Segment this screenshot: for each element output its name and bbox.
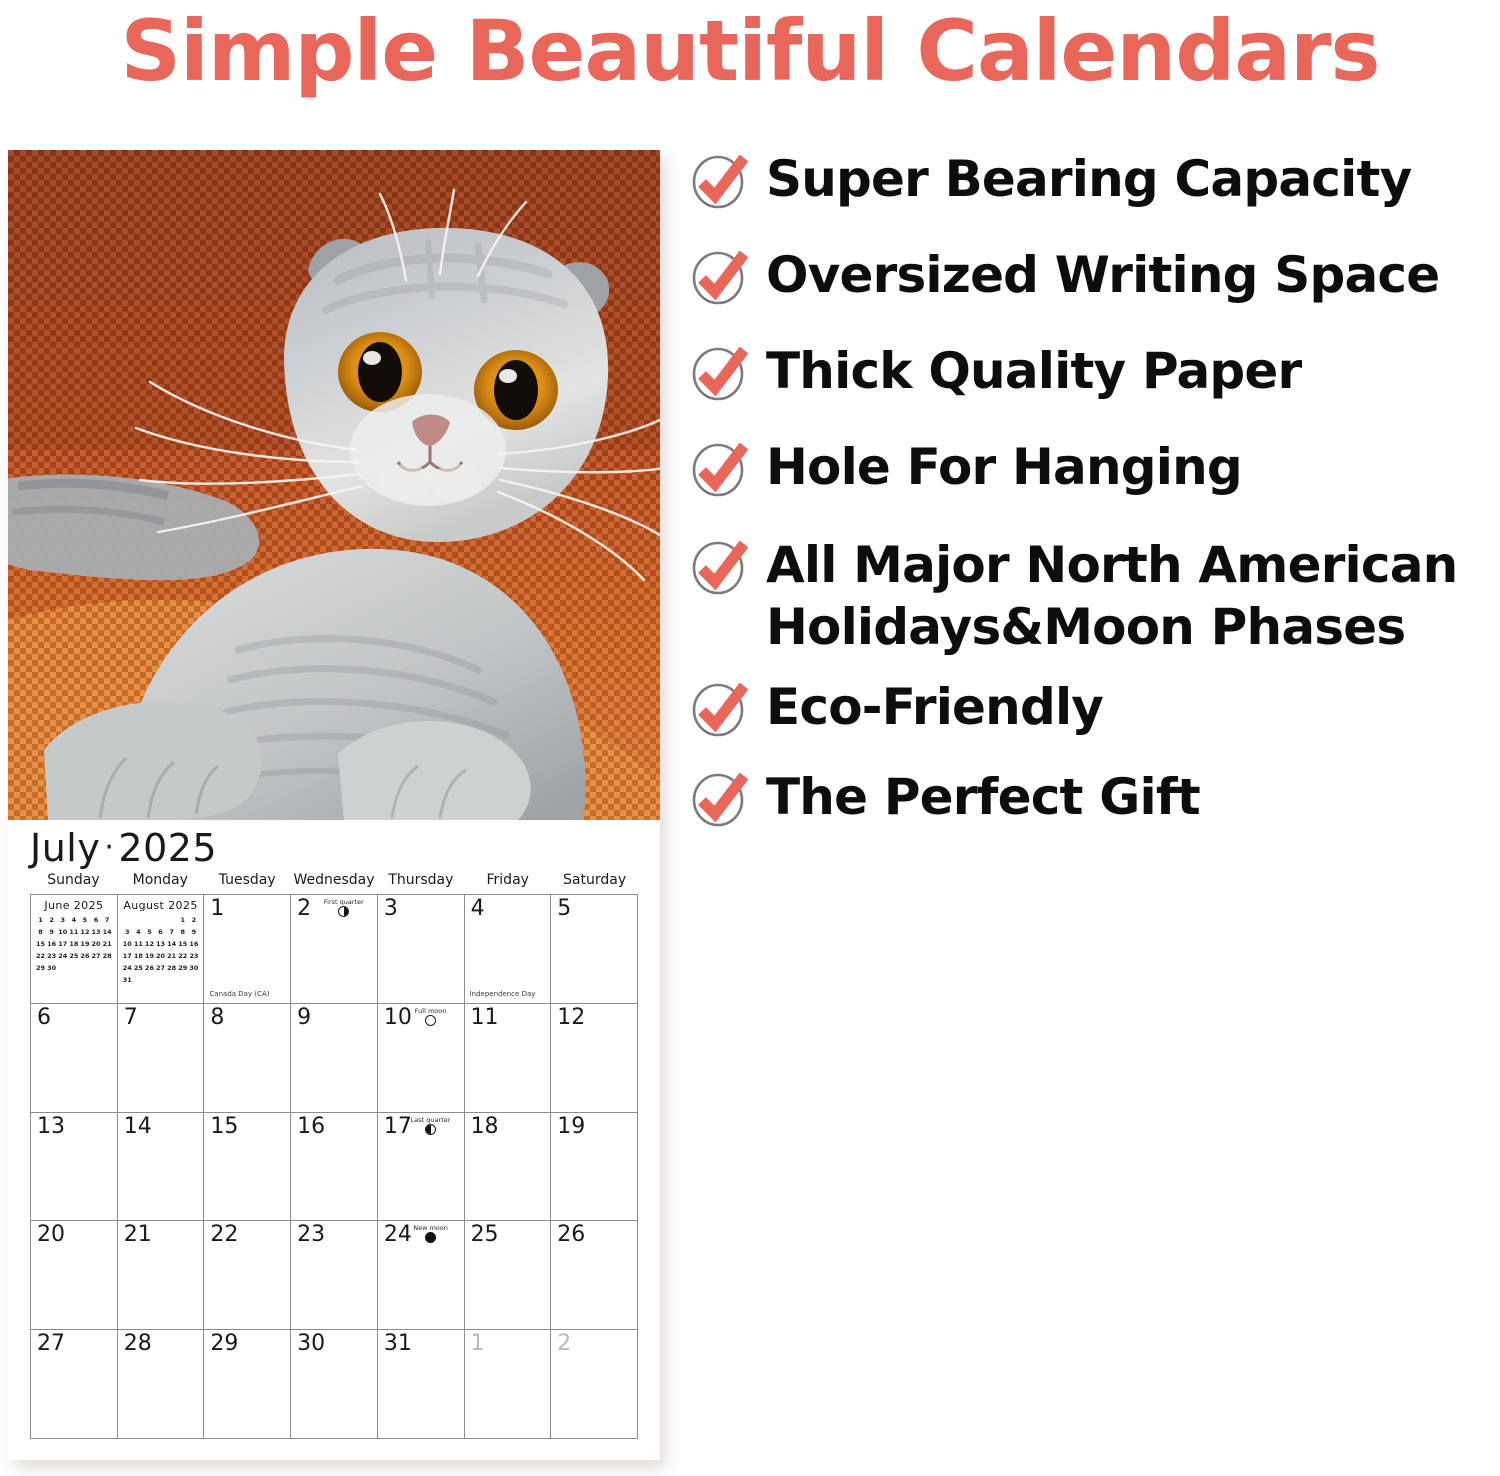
mini-day: 18 [133,952,144,961]
feature-item: All Major North AmericanHolidays&Moon Ph… [690,534,1490,658]
calendar-day-cell: 25 [465,1221,552,1330]
day-number: 1 [210,896,224,922]
mini-day: 7 [166,928,177,937]
mini-day: 11 [133,940,144,949]
moon-phase-label: Last quarter [402,1116,460,1124]
calendar-day-cell: 22 [204,1221,291,1330]
calendar-day-cell: 27 [31,1330,118,1439]
feature-item: Eco-Friendly [690,676,1490,740]
mini-day: 2 [46,916,57,925]
mini-day: 29 [35,964,46,973]
calendar-day-cell: 10Full moon [378,1004,465,1113]
mini-day: 1 [177,916,188,925]
calendar-day-cell: 1 [465,1330,552,1439]
mini-day: 22 [177,952,188,961]
mini-day: 19 [79,940,90,949]
mini-day: 15 [35,940,46,949]
title-separator: · [100,830,118,865]
calendar-day-cell: 1Canada Day (CA) [204,895,291,1004]
day-number: 2 [297,896,311,922]
feature-item: Thick Quality Paper [690,340,1490,404]
check-circle-icon [690,246,752,308]
calendar-day-cell: 9 [291,1004,378,1113]
feature-label-line-1: All Major North American [766,536,1457,594]
mini-day: 20 [155,952,166,961]
day-number: 12 [557,1005,585,1031]
moon-glyph [425,1232,436,1243]
mini-day: 17 [122,952,133,961]
mini-day: 27 [155,964,166,973]
calendar-day-cell: 30 [291,1330,378,1439]
calendar-day-cell: 4Independence Day [465,895,552,1004]
feature-label-line-1: Eco-Friendly [766,678,1103,736]
moon-phase-first-icon: First quarter [315,898,373,917]
check-circle-icon [690,768,752,830]
mini-day: 7 [102,916,113,925]
check-circle-icon [690,150,752,212]
mini-day: 2 [188,916,199,925]
calendar-day-cell: 18 [465,1113,552,1222]
feature-label-line-1: Super Bearing Capacity [766,150,1411,208]
mini-day: 17 [57,940,68,949]
moon-phase-new-icon: New moon [402,1224,460,1243]
weekday-label-thursday: Thursday [377,872,464,888]
calendar-day-cell: 6 [31,1004,118,1113]
mini-day: 31 [122,976,133,985]
mini-day: 15 [177,940,188,949]
calendar-day-cell: 8 [204,1004,291,1113]
day-number: 16 [297,1114,325,1140]
mini-day: 13 [91,928,102,937]
check-circle-icon [690,536,752,598]
holiday-label: Independence Day [470,990,548,999]
mini-day: 23 [188,952,199,961]
day-number: 31 [384,1331,412,1357]
day-number: 15 [210,1114,238,1140]
cat-photo [8,150,660,820]
feature-item: Super Bearing Capacity [690,148,1490,212]
mini-day: 9 [46,928,57,937]
mini-day: 30 [46,964,57,973]
feature-label-line-1: The Perfect Gift [766,768,1200,826]
feature-label: Hole For Hanging [766,436,1242,498]
check-circle-icon [690,342,752,404]
mini-day: 18 [68,940,79,949]
calendar-day-cell: 23 [291,1221,378,1330]
mini-day: 23 [46,952,57,961]
moon-phase-label: First quarter [315,898,373,906]
feature-label: The Perfect Gift [766,766,1200,828]
weekday-label-friday: Friday [464,872,551,888]
mini-day: 19 [144,952,155,961]
calendar-day-cell: 3 [378,895,465,1004]
mini-day: 20 [91,940,102,949]
check-circle-icon [690,536,752,598]
feature-label: Eco-Friendly [766,676,1103,738]
weekday-label-tuesday: Tuesday [204,872,291,888]
mini-day: 9 [188,928,199,937]
feature-item: The Perfect Gift [690,766,1490,830]
mini-day: 27 [91,952,102,961]
weekday-label-saturday: Saturday [551,872,638,888]
calendar-day-cell: 5 [551,895,638,1004]
mini-month-calendar: August 2025.....123456789101112131415161… [122,899,200,985]
mini-day-blank: . [133,916,144,925]
calendar-day-cell: 16 [291,1113,378,1222]
mini-day: 26 [144,964,155,973]
page-title: Simple Beautiful Calendars [0,0,1500,104]
mini-month-grid: 1234567891011121314151617181920212223242… [35,916,113,973]
mini-day: 4 [133,928,144,937]
day-number: 8 [210,1005,224,1031]
day-number: 14 [124,1114,152,1140]
day-number: 7 [124,1005,138,1031]
feature-label: Thick Quality Paper [766,340,1301,402]
calendar-day-cell: 15 [204,1113,291,1222]
mini-day: 13 [155,940,166,949]
mini-day: 28 [166,964,177,973]
mini-month-grid: .....12345678910111213141516171819202122… [122,916,200,985]
day-number: 5 [557,896,571,922]
day-number: 26 [557,1222,585,1248]
mini-day: 6 [155,928,166,937]
feature-item: Hole For Hanging [690,436,1490,500]
mini-day: 14 [166,940,177,949]
calendar-day-cell: 17Last quarter [378,1113,465,1222]
mini-day: 5 [144,928,155,937]
mini-day-blank: . [166,916,177,925]
calendar-day-cell: 2First quarter [291,895,378,1004]
day-number: 21 [124,1222,152,1248]
mini-day-blank: . [155,916,166,925]
mini-day: 21 [166,952,177,961]
day-number: 25 [471,1222,499,1248]
mini-day: 3 [122,928,133,937]
mini-day: 25 [133,964,144,973]
calendar-day-cell: 24New moon [378,1221,465,1330]
calendar-day-cell: 2 [551,1330,638,1439]
mini-day: 8 [35,928,46,937]
day-number: 23 [297,1222,325,1248]
check-circle-icon [690,768,752,830]
month-name: July [30,826,100,870]
mini-day: 5 [79,916,90,925]
day-number: 22 [210,1222,238,1248]
check-circle-icon [690,678,752,740]
weekday-header-row: SundayMondayTuesdayWednesdayThursdayFrid… [30,872,638,888]
mini-day: 12 [144,940,155,949]
feature-item: Oversized Writing Space [690,244,1490,308]
product-feature-graphic: Simple Beautiful Calendars [0,0,1500,1476]
feature-label-line-1: Hole For Hanging [766,438,1242,496]
feature-label-line-1: Thick Quality Paper [766,342,1301,400]
weekday-label-wednesday: Wednesday [291,872,378,888]
calendar-cell-mini: August 2025.....123456789101112131415161… [118,895,205,1004]
mini-day: 29 [177,964,188,973]
calendar-day-cell: 21 [118,1221,205,1330]
mini-day: 10 [122,940,133,949]
day-number: 11 [471,1005,499,1031]
day-number: 9 [297,1005,311,1031]
calendar-day-cell: 14 [118,1113,205,1222]
calendar-day-cell: 20 [31,1221,118,1330]
feature-label: Oversized Writing Space [766,244,1439,306]
feature-label: All Major North AmericanHolidays&Moon Ph… [766,534,1457,658]
feature-list: Super Bearing CapacityOversized Writing … [690,148,1490,862]
calendar-day-grid: June 20251234567891011121314151617181920… [30,894,638,1439]
mini-day: 22 [35,952,46,961]
calendar-day-cell: 19 [551,1113,638,1222]
mini-month-calendar: June 20251234567891011121314151617181920… [35,899,113,973]
mini-day: 28 [102,952,113,961]
calendar-preview-card: July·2025 SundayMondayTuesdayWednesdayTh… [8,150,660,1460]
mini-day: 25 [68,952,79,961]
mini-day: 6 [91,916,102,925]
feature-label-line-2: Holidays&Moon Phases [766,596,1457,658]
day-number: 27 [37,1331,65,1357]
calendar-cell-mini: June 20251234567891011121314151617181920… [31,895,118,1004]
holiday-label: Canada Day (CA) [209,990,287,999]
check-circle-icon [690,150,752,212]
mini-day: 24 [122,964,133,973]
mini-day: 30 [188,964,199,973]
year-value: 2025 [118,826,217,870]
day-number: 2 [557,1331,571,1357]
check-circle-icon [690,438,752,500]
mini-day: 10 [57,928,68,937]
mini-day: 12 [79,928,90,937]
calendar-day-cell: 13 [31,1113,118,1222]
moon-glyph [425,1015,436,1026]
mini-day: 16 [188,940,199,949]
mini-day-blank: . [144,916,155,925]
mini-day: 16 [46,940,57,949]
day-number: 20 [37,1222,65,1248]
day-number: 28 [124,1331,152,1357]
calendar-day-cell: 29 [204,1330,291,1439]
day-number: 18 [471,1114,499,1140]
weekday-label-sunday: Sunday [30,872,117,888]
calendar-day-cell: 26 [551,1221,638,1330]
calendar-month-title: July·2025 [30,826,217,874]
calendar-day-cell: 12 [551,1004,638,1113]
mini-month-title: June 2025 [35,899,113,912]
mini-day-blank: . [122,916,133,925]
day-number: 6 [37,1005,51,1031]
cat-photo-illustration [8,150,660,820]
day-number: 19 [557,1114,585,1140]
mini-day: 24 [57,952,68,961]
moon-glyph [338,906,349,917]
moon-phase-label: New moon [402,1224,460,1232]
check-circle-icon [690,678,752,740]
check-circle-icon [690,438,752,500]
moon-glyph [425,1124,436,1135]
day-number: 4 [471,896,485,922]
mini-day: 14 [102,928,113,937]
mini-day: 11 [68,928,79,937]
day-number: 13 [37,1114,65,1140]
mini-month-title: August 2025 [122,899,200,912]
mini-day: 8 [177,928,188,937]
moon-phase-full-icon: Full moon [402,1007,460,1026]
day-number: 3 [384,896,398,922]
check-circle-icon [690,342,752,404]
moon-phase-label: Full moon [402,1007,460,1015]
day-number: 30 [297,1331,325,1357]
feature-label: Super Bearing Capacity [766,148,1411,210]
calendar-day-cell: 31 [378,1330,465,1439]
feature-label-line-1: Oversized Writing Space [766,246,1439,304]
calendar-day-cell: 7 [118,1004,205,1113]
calendar-day-cell: 28 [118,1330,205,1439]
weekday-label-monday: Monday [117,872,204,888]
check-circle-icon [690,246,752,308]
mini-day: 21 [102,940,113,949]
moon-phase-last-icon: Last quarter [402,1116,460,1135]
day-number: 1 [471,1331,485,1357]
mini-day: 3 [57,916,68,925]
mini-day: 26 [79,952,90,961]
calendar-day-cell: 11 [465,1004,552,1113]
day-number: 29 [210,1331,238,1357]
mini-day: 1 [35,916,46,925]
mini-day: 4 [68,916,79,925]
